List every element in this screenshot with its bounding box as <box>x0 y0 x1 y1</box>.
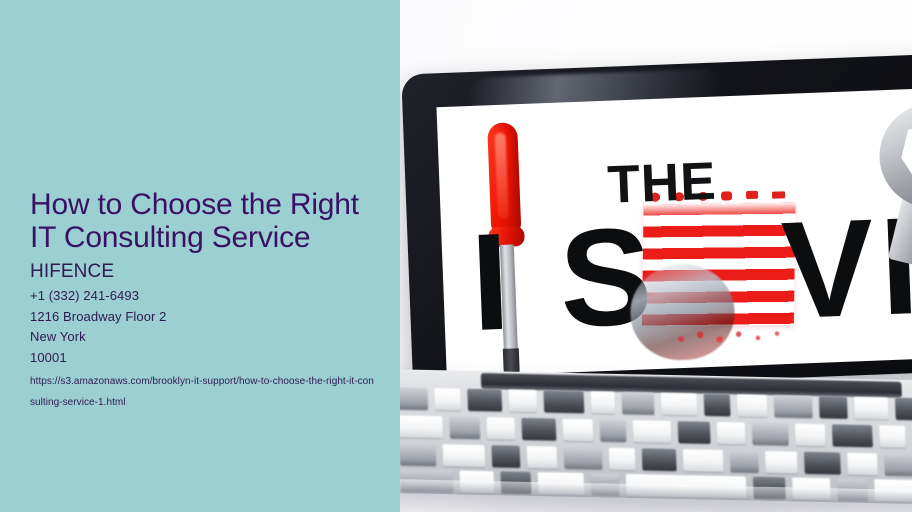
brand-name: HIFENCE <box>30 260 400 284</box>
laptop-illustration: THE I S VIT <box>401 53 912 512</box>
phone-number: +1 (332) 241-6493 <box>30 286 400 307</box>
wrench-icon <box>845 87 912 277</box>
page-title: How to Choose the Right IT Consulting Se… <box>30 188 400 254</box>
laptop-lid: THE I S VIT <box>401 53 912 392</box>
source-url[interactable]: https://s3.amazonaws.com/brooklyn-it-sup… <box>30 371 375 413</box>
laptop-keyboard-deck <box>400 369 912 507</box>
text-block: How to Choose the Right IT Consulting Se… <box>30 188 400 413</box>
postal-code: 10001 <box>30 348 400 369</box>
screen-word-left: I S <box>468 199 661 360</box>
slide-canvas: How to Choose the Right IT Consulting Se… <box>0 0 912 512</box>
screen-artwork: THE I S VIT <box>436 87 912 377</box>
left-text-panel: How to Choose the Right IT Consulting Se… <box>0 0 400 512</box>
address-line: 1216 Broadway Floor 2 <box>30 307 400 328</box>
laptop-screen: THE I S VIT <box>436 87 912 377</box>
city-name: New York <box>30 327 400 348</box>
hero-image: THE I S VIT <box>400 0 912 512</box>
